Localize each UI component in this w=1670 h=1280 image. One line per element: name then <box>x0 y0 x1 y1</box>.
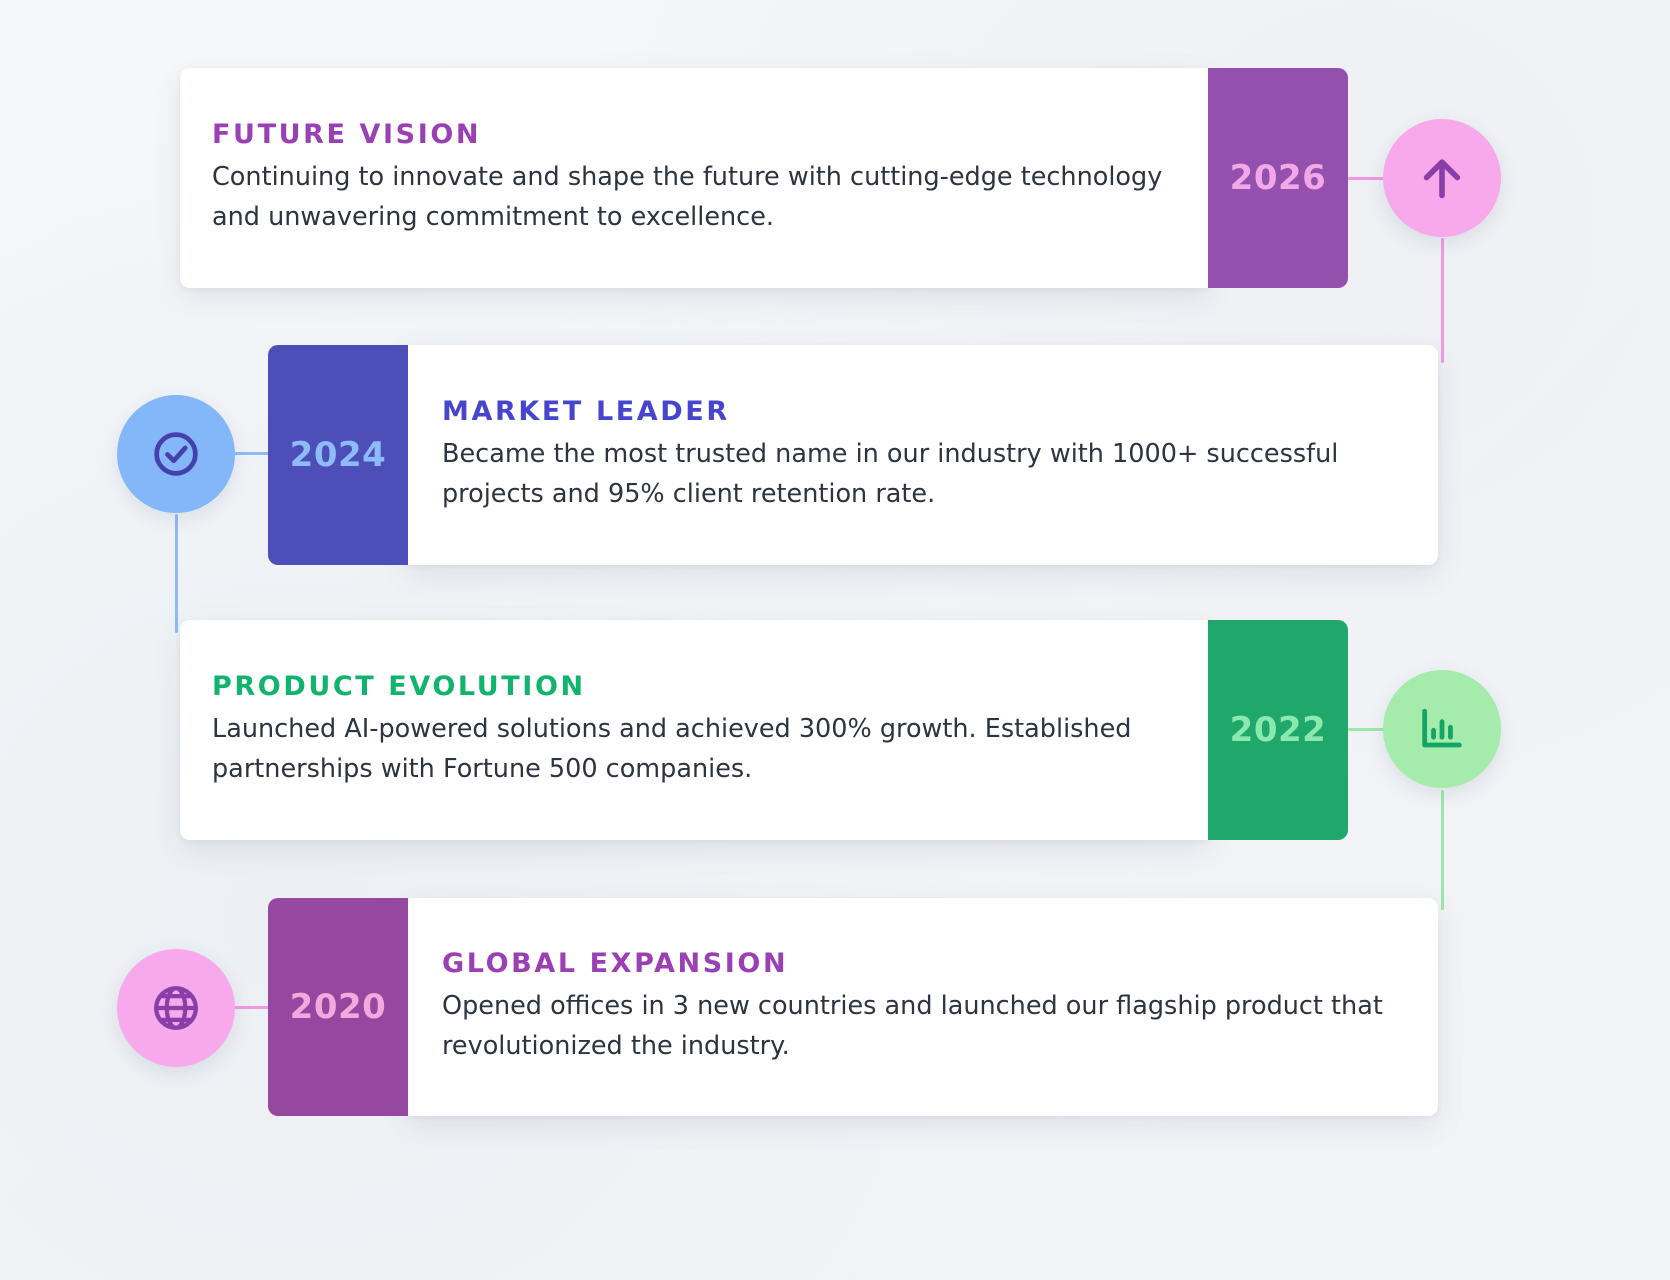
card-description-2026: Continuing to innovate and shape the fut… <box>212 158 1174 238</box>
connector-line-2026-down <box>1441 238 1444 363</box>
milestone-icon-circle-2022[interactable] <box>1383 670 1501 788</box>
card-description-2022: Launched AI-powered solutions and achiev… <box>212 710 1174 790</box>
timeline-card-2022: PRODUCT EVOLUTION Launched AI-powered so… <box>180 620 1208 840</box>
milestone-icon-circle-2026[interactable] <box>1383 119 1501 237</box>
year-badge-2020[interactable]: 2020 <box>268 898 408 1116</box>
year-badge-2024[interactable]: 2024 <box>268 345 408 565</box>
timeline-entry-2022[interactable]: PRODUCT EVOLUTION Launched AI-powered so… <box>180 620 1348 840</box>
card-title-2022: PRODUCT EVOLUTION <box>212 671 1174 702</box>
card-title-2024: MARKET LEADER <box>442 396 1404 427</box>
timeline-entry-2026[interactable]: FUTURE VISION Continuing to innovate and… <box>180 68 1348 288</box>
milestone-icon-circle-2020[interactable] <box>117 949 235 1067</box>
globe-icon <box>149 981 203 1035</box>
timeline-card-2026: FUTURE VISION Continuing to innovate and… <box>180 68 1208 288</box>
bar-chart-icon <box>1416 703 1468 755</box>
connector-line-2024-down <box>175 514 178 633</box>
year-badge-2026[interactable]: 2026 <box>1208 68 1348 288</box>
timeline-card-2020: GLOBAL EXPANSION Opened offices in 3 new… <box>408 898 1438 1116</box>
card-title-2020: GLOBAL EXPANSION <box>442 948 1404 979</box>
year-badge-2022[interactable]: 2022 <box>1208 620 1348 840</box>
connector-line-2022-down <box>1441 790 1444 910</box>
arrow-up-icon <box>1414 150 1470 206</box>
check-circle-icon <box>149 427 203 481</box>
timeline-canvas: FUTURE VISION Continuing to innovate and… <box>0 0 1670 1280</box>
card-title-2026: FUTURE VISION <box>212 119 1174 150</box>
timeline-entry-2024[interactable]: 2024 MARKET LEADER Became the most trust… <box>268 345 1438 565</box>
card-description-2020: Opened offices in 3 new countries and la… <box>442 987 1404 1067</box>
timeline-card-2024: MARKET LEADER Became the most trusted na… <box>408 345 1438 565</box>
milestone-icon-circle-2024[interactable] <box>117 395 235 513</box>
card-description-2024: Became the most trusted name in our indu… <box>442 435 1404 515</box>
timeline-entry-2020[interactable]: 2020 GLOBAL EXPANSION Opened offices in … <box>268 898 1438 1116</box>
